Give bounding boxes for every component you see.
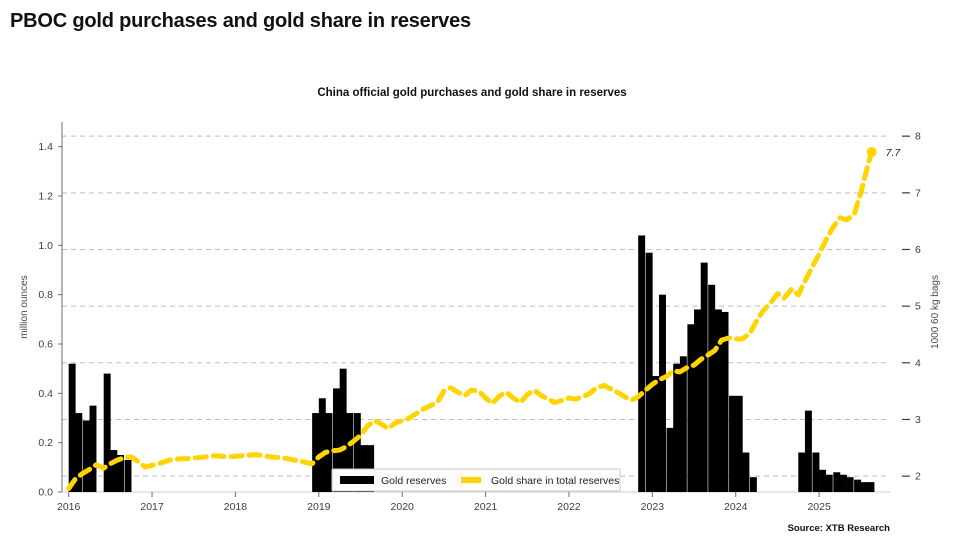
bar (715, 309, 722, 492)
legend-label-gold-reserves: Gold reserves (381, 475, 446, 487)
x-axis-tick-label: 2021 (474, 501, 498, 513)
bar (742, 453, 749, 492)
source-note: Source: XTB Research (788, 523, 891, 534)
x-axis-tick-label: 2022 (557, 501, 581, 513)
y-axis-left-tick-label: 0.4 (38, 388, 53, 400)
x-axis-tick-label: 2023 (641, 501, 665, 513)
bar (104, 374, 111, 492)
y-axis-left-tick-label: 0.0 (38, 487, 53, 499)
bar (638, 235, 645, 492)
bar (659, 295, 666, 492)
bar (854, 480, 861, 492)
gold-share-line (69, 152, 872, 489)
line-endpoint-marker (867, 147, 877, 157)
chart-title: China official gold purchases and gold s… (317, 87, 626, 99)
bar (840, 475, 847, 492)
bar (708, 285, 715, 492)
x-axis-tick-label: 2019 (307, 501, 331, 513)
x-axis-tick-label: 2020 (391, 501, 415, 513)
bar (833, 472, 840, 492)
y-axis-right-tick-label: 3 (915, 414, 921, 426)
endpoint-dot (867, 147, 877, 157)
bar (861, 482, 868, 492)
y-axis-left-ticks: 0.00.20.40.60.81.01.21.4 (38, 141, 62, 498)
bar (819, 470, 826, 492)
bar (83, 420, 90, 492)
y-axis-right-tick-label: 2 (915, 471, 921, 483)
x-axis-tick-label: 2016 (57, 501, 81, 513)
bar (736, 396, 743, 492)
y-axis-left-tick-label: 1.4 (38, 141, 53, 153)
x-axis-tick-label: 2025 (807, 501, 831, 513)
bar (750, 477, 757, 492)
bar (673, 364, 680, 492)
bar (680, 356, 687, 492)
y-axis-left-tick-label: 0.8 (38, 289, 53, 301)
y-axis-left-tick-label: 1.2 (38, 191, 53, 203)
x-axis-tick-label: 2024 (724, 501, 748, 513)
chart-legend: Gold reserves Gold share in total reserv… (332, 469, 620, 491)
bar (312, 413, 319, 492)
bar-series-gold-reserves (69, 235, 875, 492)
bar (798, 453, 805, 492)
bar (69, 364, 76, 492)
legend-swatch-gold-share (461, 477, 481, 483)
line-series-gold-share (69, 152, 872, 489)
bar (694, 309, 701, 492)
y-axis-right-tick-label: 8 (915, 131, 921, 143)
bar (826, 475, 833, 492)
bar (701, 263, 708, 492)
y-axis-right-ticks: 2345678 (902, 131, 921, 483)
bar (805, 411, 812, 492)
bar (812, 453, 819, 492)
y-axis-right-tick-label: 7 (915, 187, 921, 199)
chart-container: China official gold purchases and gold s… (0, 0, 962, 542)
bar (867, 482, 874, 492)
y-axis-right-tick-label: 5 (915, 301, 921, 313)
x-axis-ticks: 2016201720182019202020212022202320242025 (57, 492, 831, 513)
x-axis-tick-label: 2018 (224, 501, 248, 513)
legend-swatch-gold-reserves (340, 476, 374, 484)
y-axis-right-title: 1000 60 kg bags (930, 275, 941, 349)
legend-label-gold-share: Gold share in total reserves (491, 475, 619, 487)
bar (847, 477, 854, 492)
bar (125, 460, 132, 492)
bar (652, 376, 659, 492)
y-axis-right-tick-label: 4 (915, 357, 921, 369)
y-axis-left-title: million ounces (19, 275, 30, 338)
bar (110, 450, 117, 492)
gold-purchases-chart: China official gold purchases and gold s… (0, 0, 962, 542)
y-axis-left-tick-label: 1.0 (38, 240, 53, 252)
y-axis-right-tick-label: 6 (915, 244, 921, 256)
bar (90, 406, 97, 492)
bar (687, 324, 694, 492)
bar (646, 253, 653, 492)
x-axis-tick-label: 2017 (140, 501, 164, 513)
y-axis-left-tick-label: 0.2 (38, 437, 53, 449)
y-axis-left-tick-label: 0.6 (38, 339, 53, 351)
bar (729, 396, 736, 492)
bar (319, 398, 326, 492)
annotation-value: 7.7 (886, 147, 902, 159)
bar (667, 428, 674, 492)
